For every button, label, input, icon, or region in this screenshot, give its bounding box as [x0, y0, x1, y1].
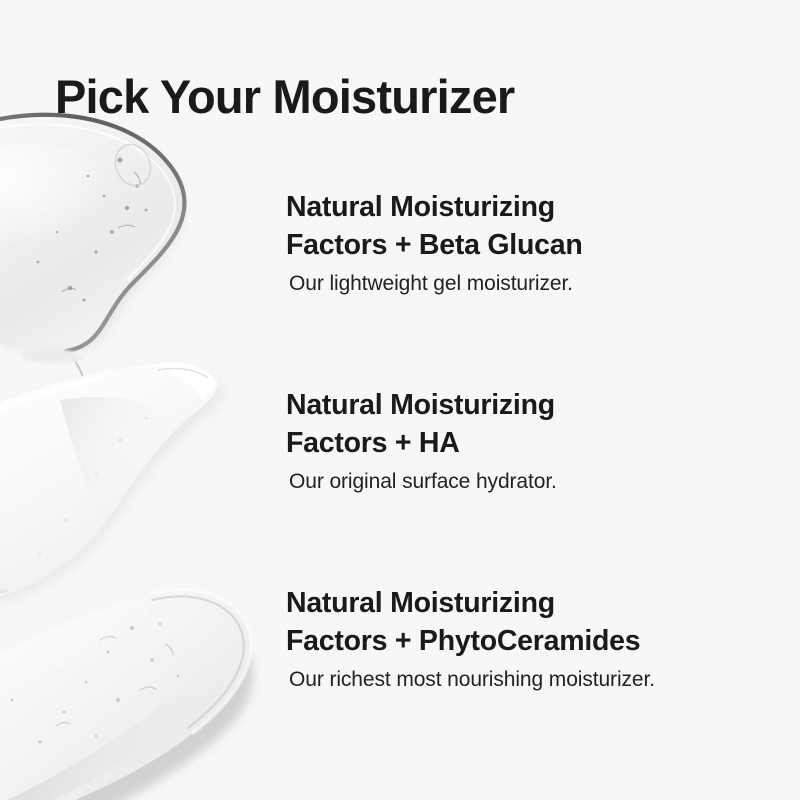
product-item-beta-glucan[interactable]: Natural Moisturizing Factors + Beta Gluc…: [286, 188, 582, 298]
product-title: Natural Moisturizing Factors + HA: [286, 386, 557, 462]
product-comparison-page: Pick Your Moisturizer Natural Moisturizi…: [0, 0, 800, 800]
product-description: Our original surface hydrator.: [289, 468, 557, 496]
product-title: Natural Moisturizing Factors + Beta Gluc…: [286, 188, 582, 264]
product-item-ha[interactable]: Natural Moisturizing Factors + HA Our or…: [286, 386, 557, 496]
product-title: Natural Moisturizing Factors + PhytoCera…: [286, 584, 655, 660]
product-description: Our richest most nourishing moisturizer.: [289, 666, 655, 694]
product-list: Natural Moisturizing Factors + Beta Gluc…: [0, 0, 800, 800]
product-description: Our lightweight gel moisturizer.: [289, 270, 582, 298]
product-item-phytoceramides[interactable]: Natural Moisturizing Factors + PhytoCera…: [286, 584, 655, 694]
